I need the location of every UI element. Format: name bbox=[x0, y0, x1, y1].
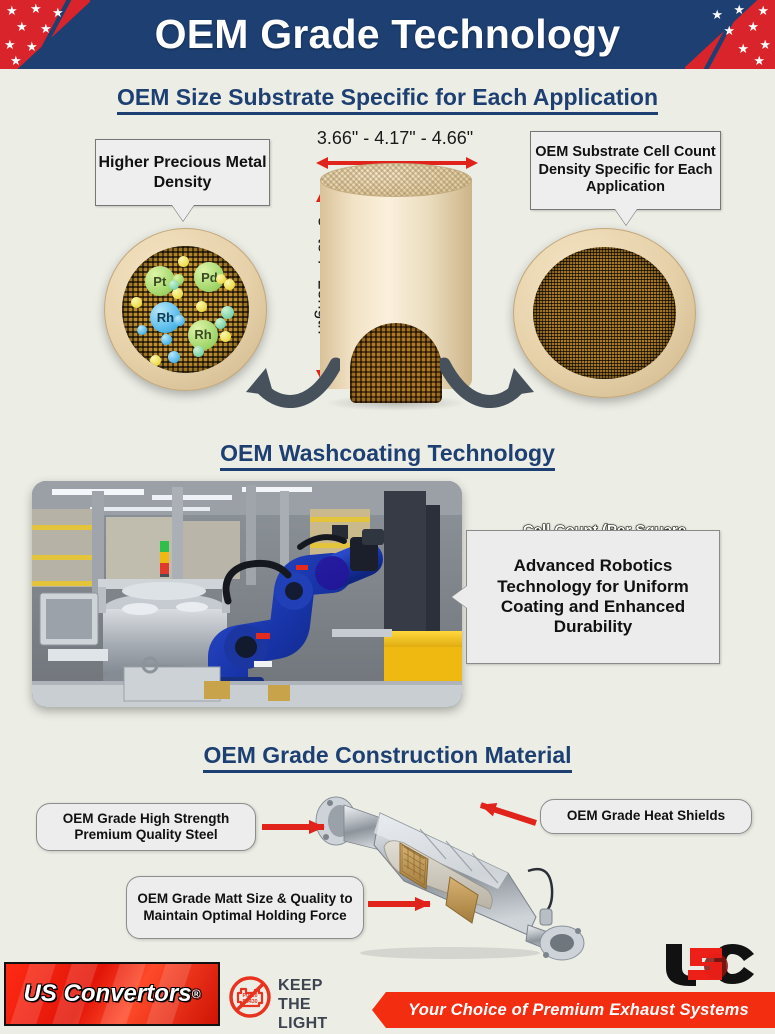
callout-higher-precious-metal-density: Higher Precious Metal Density bbox=[95, 139, 270, 206]
washcoating-robot-photo bbox=[32, 481, 462, 707]
particle-dot bbox=[216, 274, 226, 284]
substrate-disc-cell-count: Cell Count (Per Square Inch) 400, 600, 8… bbox=[513, 228, 696, 398]
particle-dot bbox=[193, 346, 204, 357]
particle-dot bbox=[196, 301, 207, 312]
particle-dot bbox=[150, 355, 161, 366]
arrow-to-matt bbox=[368, 897, 430, 911]
keep-the-light-off-text: KEEP THE LIGHT OFF bbox=[278, 976, 358, 1034]
callout-tail bbox=[452, 586, 467, 608]
pill-oem-grade-heat-shields: OEM Grade Heat Shields bbox=[540, 799, 752, 834]
particle-dot bbox=[174, 315, 185, 326]
infographic-page: ★ ★ ★ ★ ★ ★ ★ ★ OEM Grade Technology ★ ★… bbox=[0, 0, 775, 1034]
particle-dot bbox=[131, 297, 142, 308]
keep-light-line1: KEEP THE bbox=[278, 976, 358, 1014]
pill-oem-grade-matt: OEM Grade Matt Size & Quality to Maintai… bbox=[126, 876, 364, 939]
callout-cell-count-text: OEM Substrate Cell Count Density Specifi… bbox=[531, 144, 720, 196]
us-convertors-logo[interactable]: US Convertors® bbox=[4, 962, 220, 1026]
callout-tail bbox=[172, 205, 194, 221]
callout-precious-text: Higher Precious Metal Density bbox=[96, 153, 269, 191]
dtc-code-p0430: P0430 bbox=[242, 999, 257, 1005]
section-title-substrate: OEM Size Substrate Specific for Each App… bbox=[0, 84, 775, 111]
registered-mark: ® bbox=[192, 987, 201, 1001]
particle-dot bbox=[168, 351, 180, 363]
usc-monogram-logo[interactable] bbox=[660, 940, 760, 988]
callout-robotics-text: Advanced Robotics Technology for Uniform… bbox=[467, 556, 719, 638]
callout-tail bbox=[615, 209, 637, 225]
section-title-construction: OEM Grade Construction Material bbox=[0, 742, 775, 769]
brand-name: US Convertors bbox=[24, 980, 192, 1008]
page-header: ★ ★ ★ ★ ★ ★ ★ ★ OEM Grade Technology ★ ★… bbox=[0, 0, 775, 69]
particle-dot bbox=[221, 306, 234, 319]
keep-the-light-off-badge: P0420 P0430 KEEP THE LIGHT OFF bbox=[228, 974, 358, 1020]
section-title-washcoating-text: OEM Washcoating Technology bbox=[220, 440, 555, 471]
section-title-substrate-text: OEM Size Substrate Specific for Each App… bbox=[117, 84, 658, 115]
particle-dot bbox=[215, 318, 226, 329]
particle-dot bbox=[137, 325, 147, 335]
particle-dot bbox=[178, 256, 189, 267]
particle-rh-green: Rh bbox=[188, 320, 218, 350]
footer-tagline-banner: Your Choice of Premium Exhaust Systems bbox=[372, 992, 775, 1028]
no-check-engine-light-icon: P0420 P0430 bbox=[228, 975, 272, 1019]
pointer-arrow-left bbox=[240, 330, 340, 408]
us-convertors-logo-text: US Convertors® bbox=[6, 964, 218, 1024]
section-title-washcoating: OEM Washcoating Technology bbox=[0, 440, 775, 467]
keep-light-line2: LIGHT OFF bbox=[278, 1014, 358, 1034]
particle-dot bbox=[161, 334, 172, 345]
callout-advanced-robotics: Advanced Robotics Technology for Uniform… bbox=[466, 530, 720, 664]
dimension-diameter-label: 3.66" - 4.17" - 4.66" bbox=[300, 128, 490, 149]
pill-steel-text: OEM Grade High Strength Premium Quality … bbox=[37, 811, 255, 843]
pill-matt-text: OEM Grade Matt Size & Quality to Maintai… bbox=[127, 891, 363, 923]
pill-oem-grade-steel: OEM Grade High Strength Premium Quality … bbox=[36, 803, 256, 851]
footer-tagline-text: Your Choice of Premium Exhaust Systems bbox=[408, 1001, 749, 1020]
pill-heat-shields-text: OEM Grade Heat Shields bbox=[567, 808, 725, 824]
arrow-to-steel bbox=[262, 820, 324, 834]
page-title: OEM Grade Technology bbox=[0, 0, 775, 69]
callout-cell-count-density: OEM Substrate Cell Count Density Specifi… bbox=[530, 131, 721, 210]
particle-dot bbox=[220, 331, 231, 342]
pointer-arrow-right bbox=[440, 330, 540, 408]
section-title-construction-text: OEM Grade Construction Material bbox=[203, 742, 571, 773]
